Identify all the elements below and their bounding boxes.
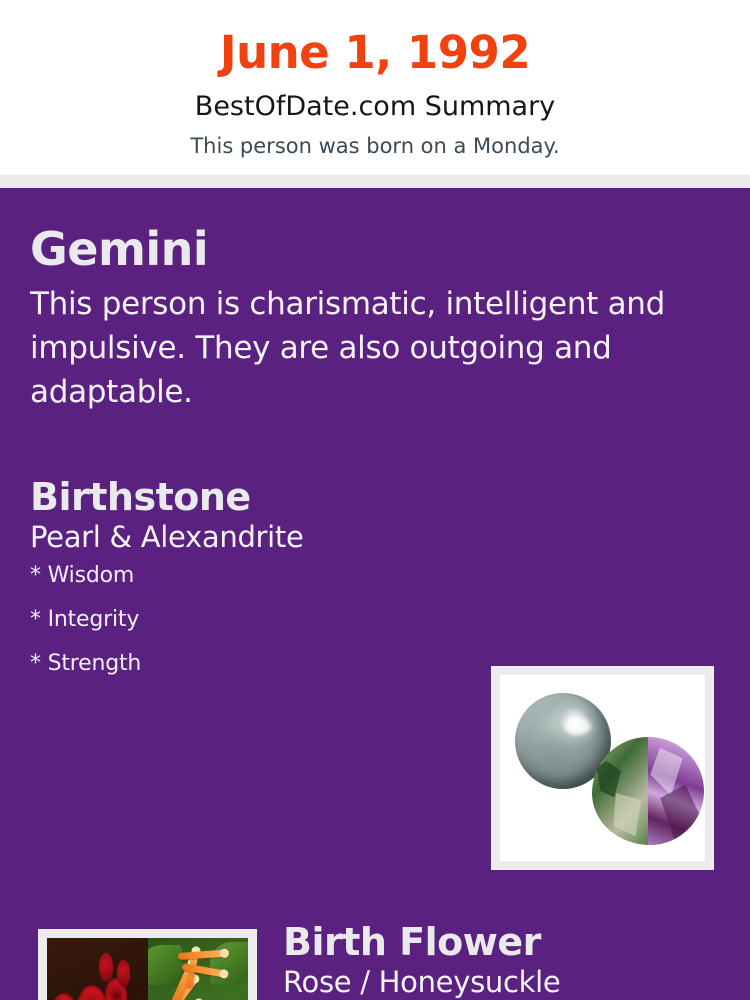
birthstone-section: Birthstone Pearl & Alexandrite * Wisdom … (30, 478, 470, 697)
birthstone-trait-list: * Wisdom * Integrity * Strength (30, 554, 470, 697)
content-panel: Gemini This person is charismatic, intel… (0, 188, 750, 1000)
header-divider (0, 175, 750, 188)
rose-bloom-icon (51, 993, 77, 1000)
header: June 1, 1992 BestOfDate.com Summary This… (0, 0, 750, 175)
honeysuckle-photo-half (148, 938, 249, 1000)
birth-flower-section: Birth Flower Rose / Honeysuckle * Romanc… (283, 923, 713, 1000)
roses-photo-half (47, 938, 148, 1000)
zodiac-description: This person is charismatic, intelligent … (30, 272, 710, 414)
birth-flower-title: Birth Flower (283, 923, 713, 963)
zodiac-sign-name: Gemini (30, 226, 710, 272)
born-weekday-text: This person was born on a Monday. (0, 120, 750, 157)
birthstone-names: Pearl & Alexandrite (30, 518, 470, 554)
rose-bloom-icon (77, 985, 107, 1000)
infographic-page: June 1, 1992 BestOfDate.com Summary This… (0, 0, 750, 1000)
site-summary-label: BestOfDate.com Summary (0, 75, 750, 120)
alexandrite-cut-half (648, 737, 704, 845)
alexandrite-rough-half (592, 737, 648, 845)
honeysuckle-leaf (210, 942, 248, 986)
alexandrite-gem-icon (592, 737, 704, 845)
birthstone-photo (500, 675, 705, 861)
page-title: June 1, 1992 (0, 0, 750, 75)
birth-flower-photo (47, 938, 248, 1000)
birthstone-image (491, 666, 714, 870)
birth-flower-names: Rose / Honeysuckle (283, 963, 713, 999)
rose-bud-icon (99, 953, 113, 982)
birth-flower-image (38, 929, 257, 1000)
zodiac-section: Gemini This person is charismatic, intel… (30, 226, 710, 414)
honeysuckle-leaf (148, 945, 182, 985)
list-item: * Strength (30, 653, 470, 697)
list-item: * Wisdom (30, 565, 470, 609)
list-item: * Integrity (30, 609, 470, 653)
birthstone-title: Birthstone (30, 478, 470, 518)
rose-bud-icon (117, 960, 130, 987)
